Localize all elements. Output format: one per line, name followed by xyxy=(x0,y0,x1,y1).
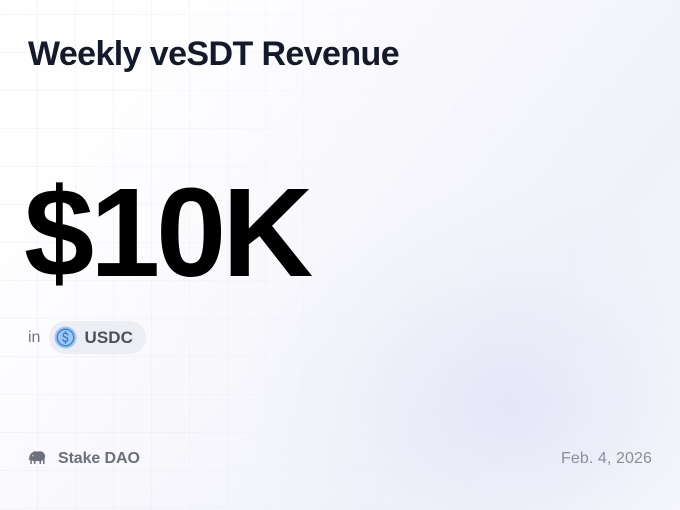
denomination-prefix-label: in xyxy=(28,330,40,346)
brand-block: Stake DAO xyxy=(28,449,140,469)
date-label: Feb. 4, 2026 xyxy=(561,451,652,467)
brand-name-label: Stake DAO xyxy=(58,451,140,467)
mammoth-icon xyxy=(28,449,50,469)
page-title: Weekly veSDT Revenue xyxy=(28,33,399,75)
card-footer: Stake DAO Feb. 4, 2026 xyxy=(28,449,652,469)
token-badge: USDC xyxy=(49,321,146,354)
denomination-row: in USDC xyxy=(28,321,146,354)
revenue-value: $10K xyxy=(24,170,309,296)
token-symbol-label: USDC xyxy=(84,329,133,346)
card-content: Weekly veSDT Revenue $10K in USDC xyxy=(0,0,680,510)
usdc-coin-icon xyxy=(54,326,77,349)
revenue-stat-card: Weekly veSDT Revenue $10K in USDC xyxy=(0,0,680,510)
